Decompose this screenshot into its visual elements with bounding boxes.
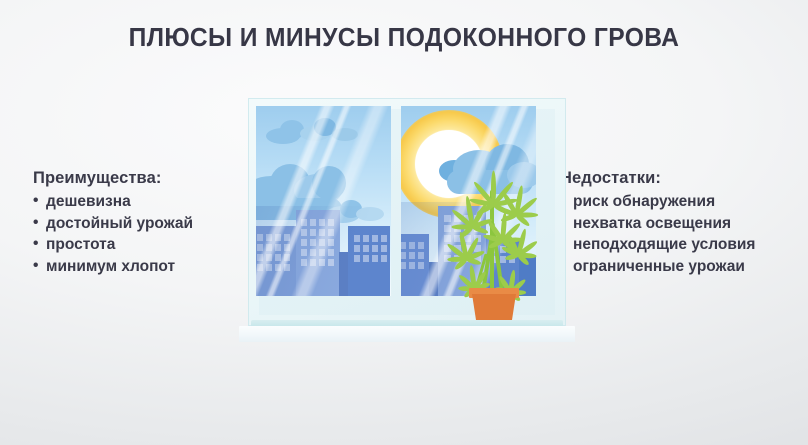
poster-canvas: ПЛЮСЫ И МИНУСЫ ПОДОКОННОГО ГРОВА Преимущ…	[0, 0, 808, 445]
left-pane	[256, 106, 391, 296]
building-shadow	[256, 206, 391, 296]
list-item: неподходящие условия	[560, 234, 755, 256]
list-item: ограниченные урожаи	[560, 256, 755, 278]
list-item: достойный урожай	[33, 213, 193, 235]
list-item: риск обнаружения	[560, 191, 755, 213]
pros-heading: Преимущества:	[33, 169, 193, 188]
list-item: простота	[33, 234, 193, 256]
window-sill	[239, 326, 575, 342]
cons-heading: Недостатки:	[560, 169, 755, 188]
cons-list: риск обнаружения нехватка освещения непо…	[560, 191, 755, 277]
list-item: нехватка освещения	[560, 213, 755, 235]
cloud-icon	[332, 128, 358, 141]
pros-block: Преимущества: дешевизна достойный урожай…	[33, 169, 193, 277]
list-item: минимум хлопот	[33, 256, 193, 278]
pros-list: дешевизна достойный урожай простота мини…	[33, 191, 193, 277]
cloud-icon	[312, 166, 346, 200]
cons-block: Недостатки: риск обнаружения нехватка ос…	[560, 169, 755, 277]
page-title: ПЛЮСЫ И МИНУСЫ ПОДОКОННОГО ГРОВА	[14, 24, 794, 53]
windowsill-grow-illustration	[248, 98, 566, 341]
list-item: дешевизна	[33, 191, 193, 213]
cannabis-plant	[444, 174, 540, 340]
